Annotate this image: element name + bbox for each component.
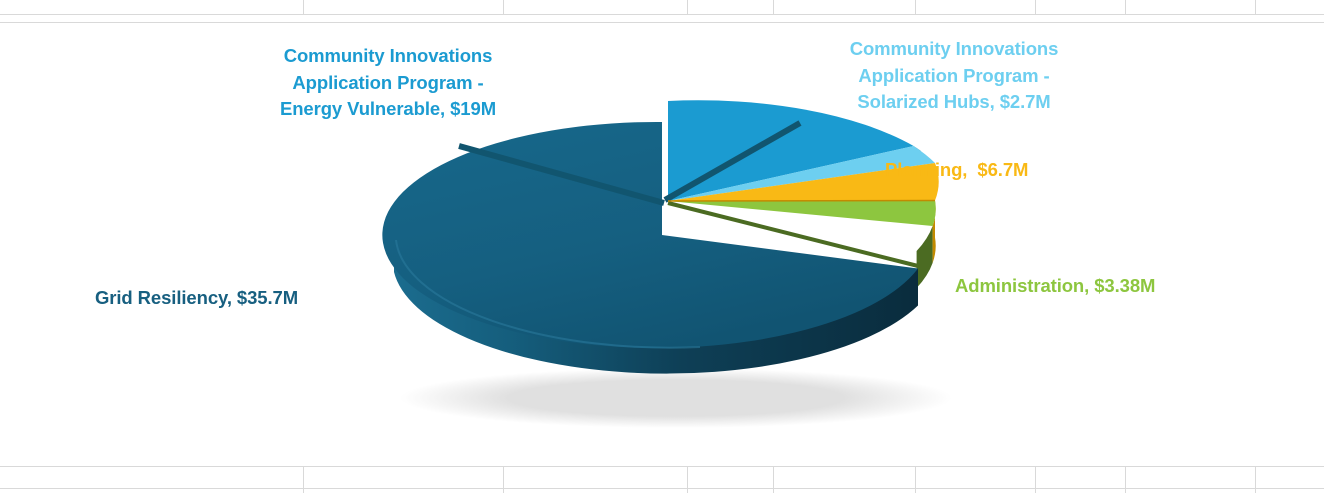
data-label-administration: Administration, $3.38M [955,273,1215,300]
pie-chart-svg[interactable] [0,0,1324,493]
pie-chart[interactable]: Community Innovations Application Progra… [0,0,1324,493]
data-label-energy-vulnerable: Community Innovations Application Progra… [256,43,520,123]
data-label-solarized-hubs: Community Innovations Application Progra… [834,36,1074,116]
slice-separator-edge-planning [668,201,935,202]
data-label-grid-resiliency: Grid Resiliency, $35.7M [95,285,345,312]
slice-side-administration [917,226,933,288]
pie-drop-shadow [400,368,952,428]
data-label-planning: Planning, $6.7M [885,157,1105,184]
